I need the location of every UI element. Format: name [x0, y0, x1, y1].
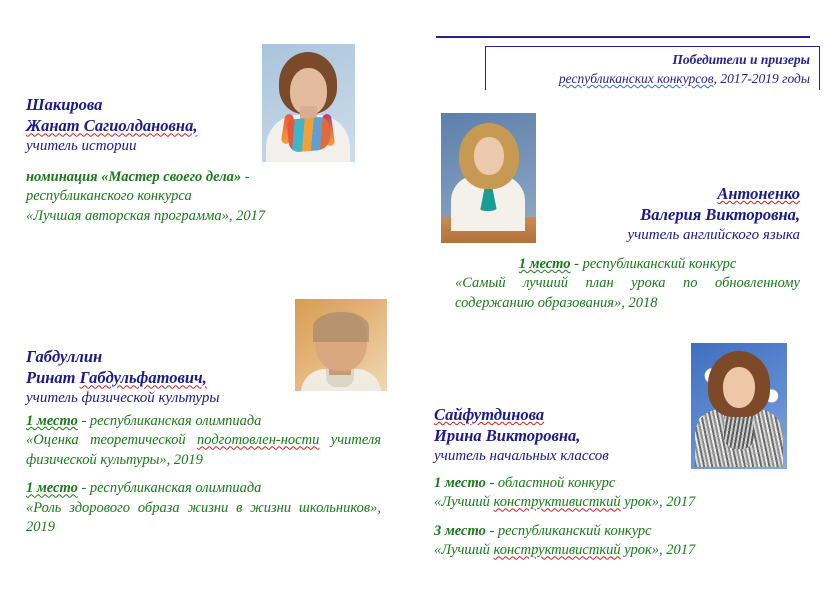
person-name-sayfutdinova: Сайфутдинова Ирина Викторовна, учитель н… — [434, 404, 694, 466]
job-role: учитель физической культуры — [26, 389, 286, 409]
achievement-line: «Оценка теоретической подготовлен-ности … — [26, 431, 381, 470]
achievements-antonenko: 1 место - республиканский конкурс «Самый… — [455, 255, 800, 313]
achievement-lead: 1 место — [434, 475, 486, 491]
achievement-lead-rest: - — [241, 169, 249, 185]
slide-title-underlined-phrase: республиканских конкурсов — [559, 71, 714, 86]
achievement-lead: 1 место — [26, 480, 78, 496]
spellcheck-word: конструктивисткий — [494, 494, 621, 510]
surname: Шакирова — [26, 94, 256, 115]
slide-canvas: Победители и призеры республиканских кон… — [0, 0, 835, 589]
patronymic: Жанат Сагиолдановна, — [26, 115, 256, 136]
person-name-antonenko: Антоненко Валерия Викторовна, учитель ан… — [520, 183, 800, 245]
achievement-item: 1 место - республиканская олимпиада «Оце… — [26, 412, 381, 470]
achievement-item: 1 место - областной конкурс «Лучший конс… — [434, 474, 789, 513]
achievements-sayfutdinova: 1 место - областной конкурс «Лучший конс… — [434, 474, 789, 561]
patronymic-second: Габдульфатович, — [80, 368, 207, 387]
patronymic-first: Ринат — [26, 368, 80, 387]
patronymic: Ринат Габдульфатович, — [26, 367, 286, 388]
achievement-lead-rest: - республиканский конкурс — [571, 256, 737, 272]
slide-title-line1: Победители и призеры — [495, 50, 810, 69]
photo-sayfutdinova — [691, 343, 787, 469]
photo-hair — [313, 312, 369, 342]
achievement-item: 3 место - республиканский конкурс «Лучши… — [434, 522, 789, 561]
achievement-lead: 3 место — [434, 523, 486, 539]
job-role: учитель начальных классов — [434, 447, 694, 467]
achievements-gabdullin: 1 место - республиканская олимпиада «Оце… — [26, 412, 381, 538]
achievement-line: республиканского конкурса — [26, 187, 384, 206]
achievement-item: 1 место - республиканская олимпиада «Рол… — [26, 479, 381, 537]
person-name-shakirova: Шакирова Жанат Сагиолдановна, учитель ис… — [26, 94, 256, 156]
achievement-line: «Самый лучший план урока по обновленному… — [455, 274, 800, 313]
job-role: учитель истории — [26, 137, 256, 157]
achievement-line: «Лучший конструктивисткий урок», 2017 — [434, 541, 789, 560]
header-divider-rule — [436, 36, 810, 38]
photo-shakirova — [262, 44, 355, 162]
achievement-lead-rest: - республиканская олимпиада — [78, 480, 262, 496]
surname: Габдуллин — [26, 346, 286, 367]
achievement-item: 1 место - республиканский конкурс «Самый… — [455, 255, 800, 313]
spellcheck-word: конструктивисткий — [494, 542, 621, 558]
person-name-gabdullin: Габдуллин Ринат Габдульфатович, учитель … — [26, 346, 286, 408]
achievement-lead-rest: - республиканская олимпиада — [78, 413, 262, 429]
photo-gabdullin — [295, 299, 387, 391]
achievement-item: номинация «Мастер своего дела» - республ… — [26, 168, 384, 226]
patronymic: Валерия Викторовна, — [520, 204, 800, 225]
achievement-line: «Роль здорового образа жизни в жизни шко… — [26, 499, 381, 538]
achievement-lead: 1 место — [26, 413, 78, 429]
achievement-line: «Лучший конструктивисткий урок», 2017 — [434, 493, 789, 512]
achievement-lead-rest: - республиканский конкурс — [486, 523, 652, 539]
achievement-lead: номинация «Мастер своего дела» — [26, 169, 241, 185]
achievement-lead-rest: - областной конкурс — [486, 475, 615, 491]
photo-sayfutdinova-frame — [691, 343, 787, 469]
photo-gabdullin-frame — [295, 299, 387, 391]
photo-face — [723, 367, 755, 408]
slide-title-line2: республиканских конкурсов, 2017-2019 год… — [495, 69, 810, 88]
slide-title-years: , 2017-2019 годы — [714, 71, 810, 86]
achievement-lead: 1 место — [519, 256, 571, 272]
job-role: учитель английского языка — [520, 226, 800, 246]
surname: Антоненко — [520, 183, 800, 204]
slide-title-box: Победители и призеры республиканских кон… — [485, 46, 820, 90]
photo-scarf — [287, 116, 332, 153]
photo-shakirova-frame — [262, 44, 355, 162]
photo-face — [474, 137, 504, 175]
spellcheck-word: подготовлен-ности — [197, 432, 319, 448]
achievements-shakirova: номинация «Мастер своего дела» - республ… — [26, 168, 384, 226]
patronymic: Ирина Викторовна, — [434, 425, 694, 446]
achievement-line: «Лучшая авторская программа», 2017 — [26, 207, 384, 226]
surname: Сайфутдинова — [434, 404, 694, 425]
